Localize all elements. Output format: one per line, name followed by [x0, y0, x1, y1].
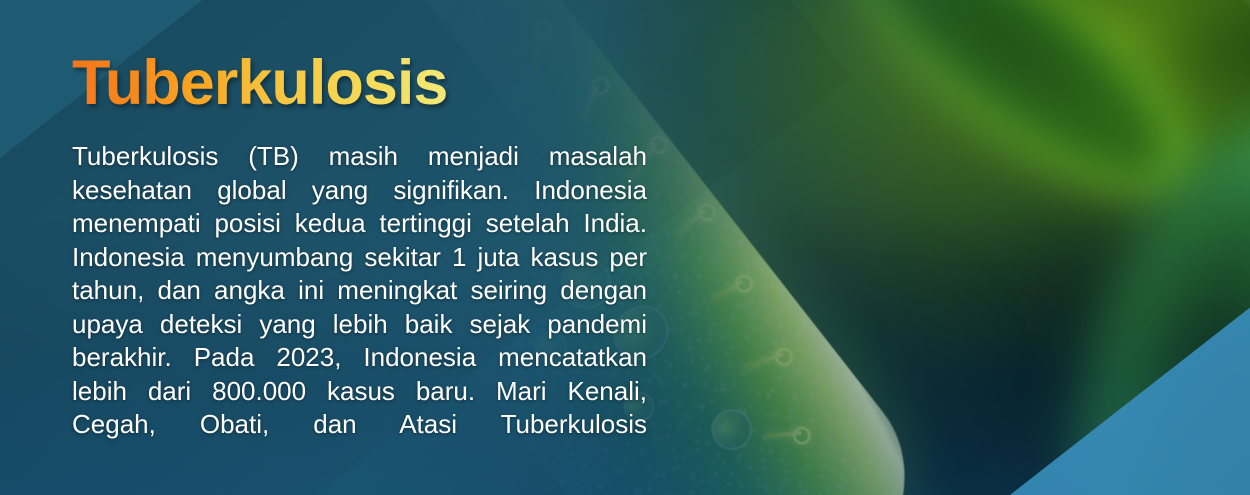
banner-content: Tuberkulosis Tuberkulosis (TB) masih men… [72, 0, 652, 495]
page-title: Tuberkulosis [72, 52, 447, 115]
tuberculosis-banner: Tuberkulosis Tuberkulosis (TB) masih men… [0, 0, 1250, 495]
banner-paragraph: Tuberkulosis (TB) masih menjadi masalah … [72, 140, 647, 475]
